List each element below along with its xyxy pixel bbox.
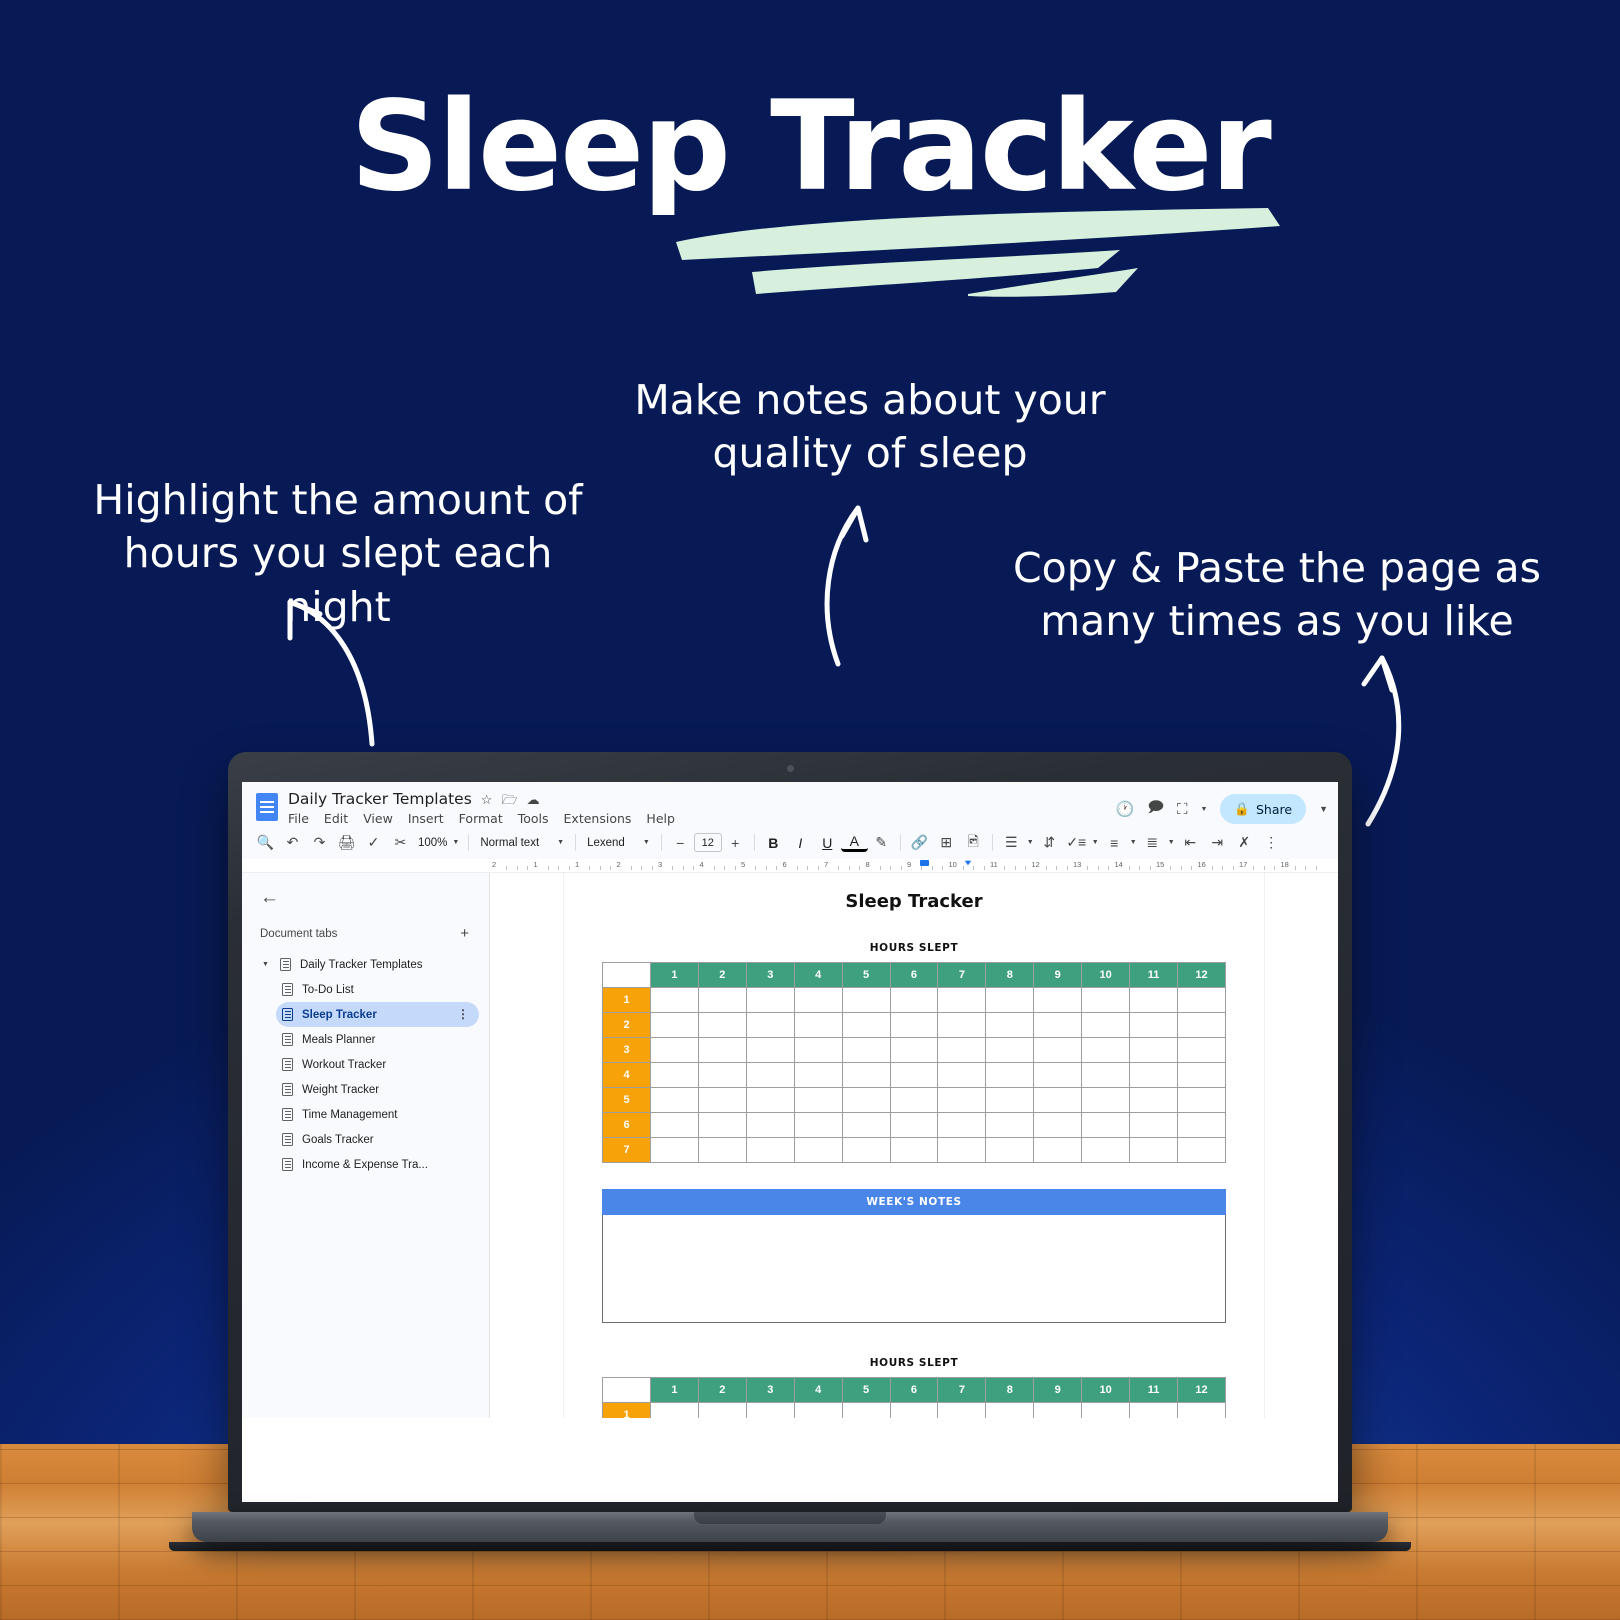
line-spacing-icon[interactable]: ⇵ (1036, 830, 1063, 855)
poster-title-block: Sleep Tracker (0, 82, 1620, 212)
grid-cell[interactable] (746, 1113, 794, 1138)
arrow-left-icon (268, 594, 398, 754)
tab-label: Goals Tracker (302, 1134, 374, 1146)
menu-tools[interactable]: Tools (518, 811, 549, 826)
add-tab-icon[interactable]: + (460, 925, 469, 942)
hour-header-cell: 2 (698, 1378, 746, 1403)
ruler-tick (1108, 866, 1109, 870)
grid-cell[interactable] (1130, 1138, 1178, 1163)
bold-button[interactable]: B (760, 830, 787, 855)
ruler-tick (973, 866, 974, 870)
hour-header-cell: 7 (938, 1378, 986, 1403)
ruler-tick (1015, 866, 1016, 870)
document-icon (282, 1058, 293, 1071)
laptop-trackpad-notch (694, 1512, 886, 1524)
ruler-label: 16 (1198, 860, 1206, 869)
ruler-tick (600, 866, 601, 870)
document-icon (282, 983, 293, 996)
sidebar-tab-sleep-tracker[interactable]: Sleep Tracker⋮ (276, 1002, 479, 1027)
grid-cell[interactable] (698, 1013, 746, 1038)
chevron-down-icon[interactable]: ▼ (262, 961, 271, 968)
style-value: Normal text (480, 837, 539, 849)
ruler-tick (1067, 866, 1068, 870)
grid-cell[interactable] (986, 988, 1034, 1013)
table-row: 2 (603, 1013, 1226, 1038)
hours-slept-table-2[interactable]: 1234567891011121 (602, 1377, 1226, 1418)
grid-cell[interactable] (794, 1038, 842, 1063)
tab-label: To-Do List (302, 984, 354, 996)
grid-cell[interactable] (746, 1063, 794, 1088)
numbered-list-icon[interactable]: ≣ (1139, 830, 1166, 855)
tab-label: Time Management (302, 1109, 397, 1121)
text-color-button[interactable]: A (841, 833, 868, 852)
grid-cell[interactable] (986, 1088, 1034, 1113)
cloud-saved-icon[interactable]: ☁ (527, 793, 540, 806)
document-icon (282, 1033, 293, 1046)
grid-cell[interactable] (698, 988, 746, 1013)
ruler-tick (1274, 866, 1275, 870)
grid-cell[interactable] (986, 1038, 1034, 1063)
undo-icon[interactable]: ↶ (279, 830, 306, 855)
hour-header-cell: 3 (746, 1378, 794, 1403)
grid-cell[interactable] (1177, 1403, 1225, 1419)
grid-cell[interactable] (698, 1088, 746, 1113)
hour-header-cell: 12 (1177, 1378, 1225, 1403)
doc-heading-sleep-tracker: Sleep Tracker (592, 891, 1236, 912)
grid-cell[interactable] (1082, 1138, 1130, 1163)
decrease-indent-icon[interactable]: ⇤ (1177, 830, 1204, 855)
font-value: Lexend (587, 837, 625, 849)
grid-cell[interactable] (842, 1088, 890, 1113)
formatting-toolbar: 🔍 ↶ ↷ 🖨 ✓ ✂ 100% ▼ Normal text ▼ Lexend (242, 826, 1338, 859)
ruler-tick (921, 866, 922, 870)
grid-cell[interactable] (890, 1088, 938, 1113)
hour-header-cell: 5 (842, 963, 890, 988)
hour-header-cell: 11 (1130, 963, 1178, 988)
hour-header-cell: 4 (794, 963, 842, 988)
back-arrow-icon[interactable]: ← (260, 887, 479, 909)
document-icon (282, 1158, 293, 1171)
ruler-label: 18 (1281, 860, 1289, 869)
more-options-icon[interactable]: ⋮ (1258, 830, 1285, 855)
align-icon[interactable]: ☰ (998, 830, 1025, 855)
grid-cell[interactable] (1082, 1113, 1130, 1138)
ruler-tick (1191, 866, 1192, 870)
grid-cell[interactable] (986, 1403, 1034, 1419)
highlight-icon[interactable]: ✎ (868, 830, 895, 855)
document-canvas[interactable]: Sleep Tracker HOURS SLEPT 12345678910111… (490, 873, 1338, 1418)
ruler-tick (838, 866, 839, 870)
paint-format-icon[interactable]: ✂ (387, 830, 414, 855)
hour-header-cell: 6 (890, 963, 938, 988)
sidebar-tab-time-management[interactable]: Time Management (276, 1102, 479, 1127)
grid-cell[interactable] (651, 1063, 699, 1088)
grid-cell[interactable] (1130, 1403, 1178, 1419)
grid-cell[interactable] (746, 1038, 794, 1063)
tab-label: Workout Tracker (302, 1059, 386, 1071)
grid-cell[interactable] (698, 1113, 746, 1138)
document-icon (282, 1108, 293, 1121)
ruler-tick (1181, 866, 1182, 870)
grid-cell[interactable] (651, 1138, 699, 1163)
version-history-icon[interactable]: 🕐 (1116, 800, 1135, 818)
ruler-label: 10 (949, 860, 957, 869)
ruler-label: 5 (741, 860, 745, 869)
grid-cell[interactable] (651, 1403, 699, 1419)
page-title: Sleep Tracker (0, 82, 1620, 212)
arrow-right-icon (1348, 650, 1428, 830)
grid-cell[interactable] (794, 1013, 842, 1038)
ruler-tick (818, 866, 819, 870)
decrease-font-size-button[interactable]: − (667, 830, 694, 855)
grid-cell[interactable] (746, 1088, 794, 1113)
grid-cell[interactable] (698, 1138, 746, 1163)
grid-cell[interactable] (1082, 1088, 1130, 1113)
ruler-label: 8 (866, 860, 870, 869)
ruler-tick (1305, 866, 1306, 870)
hour-header-cell: 5 (842, 1378, 890, 1403)
laptop-screen: Daily Tracker Templates ☆ 🗁 ☁ File Edit … (242, 782, 1338, 1502)
grid-cell[interactable] (938, 988, 986, 1013)
hour-header-cell: 8 (986, 1378, 1034, 1403)
ruler-tick (652, 866, 653, 870)
ruler-tick (1233, 866, 1234, 870)
clear-formatting-icon[interactable]: ✗ (1231, 830, 1258, 855)
ruler-tick (963, 866, 964, 870)
hour-header-cell: 6 (890, 1378, 938, 1403)
toolbar-divider (661, 834, 662, 851)
ruler-tick (1150, 866, 1151, 870)
ruler-tick (901, 866, 902, 870)
grid-cell[interactable] (794, 1138, 842, 1163)
share-chevron-down-icon[interactable]: ▼ (1319, 804, 1328, 814)
font-size-input[interactable]: 12 (694, 833, 722, 852)
table-row: 5 (603, 1088, 1226, 1113)
ruler-tick (1004, 866, 1005, 870)
grid-cell[interactable] (1082, 1038, 1130, 1063)
grid-cell[interactable] (794, 1403, 842, 1419)
grid-cell[interactable] (1034, 1088, 1082, 1113)
ruler-label: 1 (534, 860, 538, 869)
weeks-notes-block: WEEK'S NOTES (602, 1189, 1226, 1323)
grid-cell[interactable] (746, 1403, 794, 1419)
ruler-label: 3 (658, 860, 662, 869)
tab-label: Income & Expense Tra... (302, 1159, 428, 1171)
table-row: 6 (603, 1113, 1226, 1138)
ruler-tick (589, 866, 590, 870)
table-corner-cell (603, 963, 651, 988)
menu-edit[interactable]: Edit (324, 811, 348, 826)
day-label-cell: 5 (603, 1088, 651, 1113)
grid-cell[interactable] (1177, 1138, 1225, 1163)
ruler-label: 2 (492, 860, 496, 869)
tab-options-kebab-icon[interactable]: ⋮ (457, 1010, 469, 1018)
grid-cell[interactable] (1177, 1063, 1225, 1088)
paragraph-style-selector[interactable]: Normal text ▼ (474, 834, 570, 852)
ruler-tick (1295, 866, 1296, 870)
grid-cell[interactable] (890, 1063, 938, 1088)
grid-cell[interactable] (986, 1013, 1034, 1038)
menu-extensions[interactable]: Extensions (564, 811, 632, 826)
toolbar-divider (754, 834, 755, 851)
bulleted-chevron-down-icon[interactable]: ▼ (1128, 839, 1139, 846)
grid-cell[interactable] (1034, 1403, 1082, 1419)
document-ruler[interactable]: 21123456789101112131415161718 (242, 859, 1338, 873)
hour-header-cell: 1 (651, 963, 699, 988)
image-icon[interactable]: 🖻 (960, 830, 987, 855)
grid-cell[interactable] (746, 988, 794, 1013)
grid-cell[interactable] (842, 1138, 890, 1163)
table-header-row: 123456789101112 (603, 1378, 1226, 1403)
sidebar-tab-workout-tracker[interactable]: Workout Tracker (276, 1052, 479, 1077)
ruler-tick (984, 866, 985, 870)
menu-help[interactable]: Help (646, 811, 675, 826)
ruler-tick (641, 866, 642, 870)
grid-cell[interactable] (651, 1088, 699, 1113)
ruler-tick (548, 866, 549, 870)
sidebar-tab-weight-tracker[interactable]: Weight Tracker (276, 1077, 479, 1102)
grid-cell[interactable] (651, 988, 699, 1013)
ruler-label: 6 (783, 860, 787, 869)
link-icon[interactable]: 🔗 (906, 830, 933, 855)
ruler-indent-marker[interactable] (920, 860, 929, 866)
italic-button[interactable]: I (787, 830, 814, 855)
grid-cell[interactable] (1130, 1013, 1178, 1038)
ruler-tick (807, 866, 808, 870)
grid-cell[interactable] (890, 1038, 938, 1063)
ruler-label: 11 (990, 860, 998, 869)
meet-icon[interactable]: ⛶ (1177, 801, 1188, 818)
grid-cell[interactable] (698, 1063, 746, 1088)
grid-cell[interactable] (651, 1113, 699, 1138)
ruler-tick (890, 866, 891, 870)
menu-view[interactable]: View (363, 811, 393, 826)
grid-cell[interactable] (1082, 988, 1130, 1013)
grid-cell[interactable] (938, 1403, 986, 1419)
hour-header-cell: 11 (1130, 1378, 1178, 1403)
sidebar-tab-meals-planner[interactable]: Meals Planner (276, 1027, 479, 1052)
ruler-label: 17 (1239, 860, 1247, 869)
grid-cell[interactable] (842, 1063, 890, 1088)
align-chevron-down-icon[interactable]: ▼ (1025, 839, 1036, 846)
hour-header-cell: 12 (1177, 963, 1225, 988)
ruler-tick (1098, 866, 1099, 870)
hour-header-cell: 10 (1082, 963, 1130, 988)
ruler-label: 9 (907, 860, 911, 869)
numbered-chevron-down-icon[interactable]: ▼ (1166, 839, 1177, 846)
document-icon (280, 958, 291, 971)
laptop-base (192, 1512, 1388, 1542)
ruler-tick (1264, 866, 1265, 870)
increase-indent-icon[interactable]: ⇥ (1204, 830, 1231, 855)
second-hours-slept-section: HOURS SLEPT 1234567891011121 (592, 1357, 1236, 1418)
checklist-icon[interactable]: ✓≡ (1063, 830, 1090, 855)
ruler-tick (1222, 866, 1223, 870)
ruler-tick (849, 866, 850, 870)
zoom-value: 100% (418, 837, 447, 849)
chevron-down-icon: ▼ (452, 839, 459, 846)
toolbar-divider (468, 834, 469, 851)
grid-cell[interactable] (890, 1113, 938, 1138)
day-label-cell: 7 (603, 1138, 651, 1163)
search-icon[interactable]: 🔍 (252, 830, 279, 855)
grid-cell[interactable] (1177, 1088, 1225, 1113)
increase-font-size-button[interactable]: + (722, 830, 749, 855)
document-tabs-header: Document tabs + (256, 925, 479, 942)
grid-cell[interactable] (1130, 1038, 1178, 1063)
grid-cell[interactable] (698, 1403, 746, 1419)
redo-icon[interactable]: ↷ (306, 830, 333, 855)
hours-slept-table-1[interactable]: 1234567891011121234567 (602, 962, 1226, 1163)
font-family-selector[interactable]: Lexend ▼ (581, 834, 656, 852)
comment-add-icon[interactable]: ⊞ (933, 830, 960, 855)
ruler-label: 1 (575, 860, 579, 869)
grid-cell[interactable] (1082, 1403, 1130, 1419)
grid-cell[interactable] (1082, 1063, 1130, 1088)
grid-cell[interactable] (938, 1113, 986, 1138)
table-row: 1 (603, 1403, 1226, 1419)
grid-cell[interactable] (794, 1113, 842, 1138)
table-row: 3 (603, 1038, 1226, 1063)
grid-cell[interactable] (651, 1013, 699, 1038)
grid-cell[interactable] (1034, 1013, 1082, 1038)
webcam-icon (787, 765, 794, 772)
spellcheck-icon[interactable]: ✓ (360, 830, 387, 855)
day-label-cell: 1 (603, 1403, 651, 1419)
meet-chevron-down-icon[interactable]: ▼ (1200, 806, 1207, 813)
lock-icon: 🔒 (1234, 801, 1250, 817)
print-icon[interactable]: 🖨 (333, 830, 360, 855)
grid-cell[interactable] (794, 988, 842, 1013)
ruler-tick (714, 866, 715, 870)
sidebar-tab-income-expense-tra[interactable]: Income & Expense Tra... (276, 1152, 479, 1177)
grid-cell[interactable] (890, 1403, 938, 1419)
grid-cell[interactable] (1034, 1113, 1082, 1138)
grid-cell[interactable] (1130, 988, 1178, 1013)
grid-cell[interactable] (938, 1038, 986, 1063)
hour-header-cell: 9 (1034, 963, 1082, 988)
grid-cell[interactable] (1034, 1063, 1082, 1088)
grid-cell[interactable] (890, 1013, 938, 1038)
ruler-label: 12 (1032, 860, 1040, 869)
zoom-selector[interactable]: 100% ▼ (414, 837, 463, 849)
grid-cell[interactable] (842, 988, 890, 1013)
grid-cell[interactable] (1177, 1038, 1225, 1063)
sidebar-tab-to-do-list[interactable]: To-Do List (276, 977, 479, 1002)
star-icon[interactable]: ☆ (481, 793, 493, 806)
grid-cell[interactable] (842, 1013, 890, 1038)
menu-file[interactable]: File (288, 811, 309, 826)
day-label-cell: 1 (603, 988, 651, 1013)
grid-cell[interactable] (1034, 988, 1082, 1013)
tab-root-daily-tracker-templates[interactable]: ▼ Daily Tracker Templates (256, 952, 479, 977)
grid-cell[interactable] (794, 1063, 842, 1088)
menu-insert[interactable]: Insert (408, 811, 444, 826)
grid-cell[interactable] (1130, 1113, 1178, 1138)
toolbar-divider (900, 834, 901, 851)
laptop-mockup: Daily Tracker Templates ☆ 🗁 ☁ File Edit … (228, 752, 1352, 1551)
grid-cell[interactable] (842, 1113, 890, 1138)
underline-button[interactable]: U (814, 830, 841, 855)
move-to-folder-icon[interactable]: 🗁 (501, 793, 517, 806)
table-header-row: 123456789101112 (603, 963, 1226, 988)
grid-cell[interactable] (746, 1013, 794, 1038)
chevron-down-icon: ▼ (557, 839, 564, 846)
grid-cell[interactable] (1130, 1063, 1178, 1088)
grid-cell[interactable] (698, 1038, 746, 1063)
share-label: Share (1256, 802, 1292, 817)
grid-cell[interactable] (1177, 1013, 1225, 1038)
tab-label: Sleep Tracker (302, 1009, 377, 1021)
document-icon (282, 1083, 293, 1096)
table-row: 4 (603, 1063, 1226, 1088)
hour-header-cell: 7 (938, 963, 986, 988)
ruler-tick (797, 866, 798, 870)
grid-cell[interactable] (938, 1138, 986, 1163)
grid-cell[interactable] (1130, 1088, 1178, 1113)
grid-cell[interactable] (938, 1063, 986, 1088)
grid-cell[interactable] (1177, 1113, 1225, 1138)
ruler-tick (755, 866, 756, 870)
grid-cell[interactable] (890, 1138, 938, 1163)
ruler-tick (1025, 866, 1026, 870)
day-label-cell: 2 (603, 1013, 651, 1038)
document-title[interactable]: Daily Tracker Templates (288, 790, 472, 808)
day-label-cell: 6 (603, 1113, 651, 1138)
grid-cell[interactable] (842, 1403, 890, 1419)
menu-format[interactable]: Format (459, 811, 503, 826)
grid-cell[interactable] (651, 1038, 699, 1063)
checklist-chevron-down-icon[interactable]: ▼ (1090, 839, 1101, 846)
grid-cell[interactable] (890, 988, 938, 1013)
ruler-tick (1129, 866, 1130, 870)
header-right-actions: 🕐 🗩 ⛶ ▼ 🔒 Share ▼ (1116, 790, 1328, 824)
ruler-tick (517, 866, 518, 870)
grid-cell[interactable] (794, 1088, 842, 1113)
menu-bar: File Edit View Insert Format Tools Exten… (288, 811, 1116, 826)
toolbar-divider (575, 834, 576, 851)
hour-header-cell: 10 (1082, 1378, 1130, 1403)
grid-cell[interactable] (746, 1138, 794, 1163)
ruler-tick (558, 866, 559, 870)
grid-cell[interactable] (1082, 1013, 1130, 1038)
grid-cell[interactable] (986, 1138, 1034, 1163)
document-tab-list: To-Do ListSleep Tracker⋮Meals PlannerWor… (256, 977, 479, 1177)
grid-cell[interactable] (986, 1063, 1034, 1088)
grid-cell[interactable] (1177, 988, 1225, 1013)
ruler-tick (776, 866, 777, 870)
share-button[interactable]: 🔒 Share (1220, 794, 1306, 824)
docs-header: Daily Tracker Templates ☆ 🗁 ☁ File Edit … (242, 782, 1338, 826)
ruler-label: 13 (1073, 860, 1081, 869)
grid-cell[interactable] (1034, 1138, 1082, 1163)
grid-cell[interactable] (842, 1038, 890, 1063)
bulleted-list-icon[interactable]: ≡ (1101, 830, 1128, 855)
ruler-tick (1056, 866, 1057, 870)
grid-cell[interactable] (1034, 1038, 1082, 1063)
toolbar-divider (992, 834, 993, 851)
weeks-notes-input[interactable] (602, 1215, 1226, 1323)
hour-header-cell: 2 (698, 963, 746, 988)
grid-cell[interactable] (938, 1088, 986, 1113)
ruler-tick (569, 866, 570, 870)
ruler-tick (1046, 866, 1047, 870)
sidebar-tab-goals-tracker[interactable]: Goals Tracker (276, 1127, 479, 1152)
ruler-margin-marker[interactable] (965, 861, 972, 865)
grid-cell[interactable] (938, 1013, 986, 1038)
comment-icon[interactable]: 🗩 (1147, 797, 1164, 822)
grid-cell[interactable] (986, 1113, 1034, 1138)
